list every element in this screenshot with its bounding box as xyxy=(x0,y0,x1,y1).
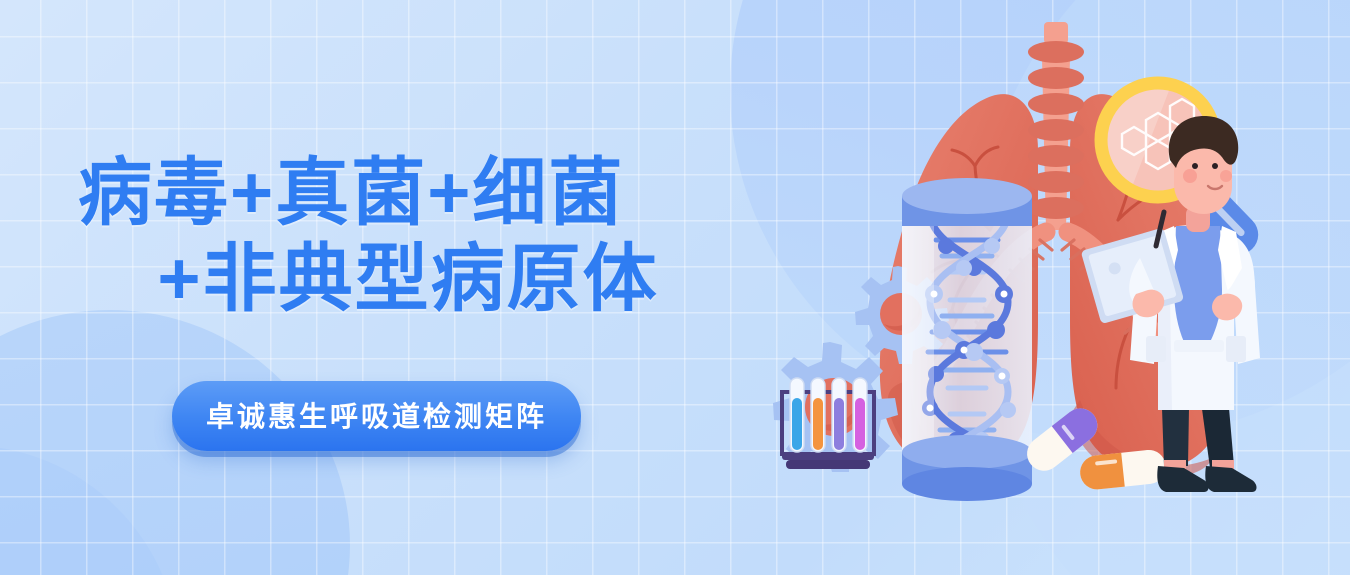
doctor-shoe-left xyxy=(1157,466,1208,492)
test-tube-3 xyxy=(832,378,846,452)
dna-cylinder-group xyxy=(902,178,1032,501)
page-title: 病毒+真菌+细菌 +非典型病原体 xyxy=(78,150,738,322)
subtitle-pill[interactable]: 卓诚惠生呼吸道检测矩阵 xyxy=(172,381,581,451)
doctor-shoe-right xyxy=(1205,466,1256,492)
test-tube-2 xyxy=(811,378,825,452)
respiratory-illustration-svg xyxy=(760,0,1350,575)
doctor-shirt xyxy=(1174,226,1222,342)
headline-line-2: +非典型病原体 xyxy=(78,236,738,322)
test-tube-1 xyxy=(790,378,804,452)
test-tube-4 xyxy=(853,378,867,452)
promo-banner: 病毒+真菌+细菌 +非典型病原体 卓诚惠生呼吸道检测矩阵 xyxy=(0,0,1350,575)
text-column: 病毒+真菌+细菌 +非典型病原体 卓诚惠生呼吸道检测矩阵 xyxy=(0,0,760,575)
subtitle-pill-wrapper: 卓诚惠生呼吸道检测矩阵 xyxy=(172,381,581,451)
illustration xyxy=(760,0,1350,575)
headline-line-1: 病毒+真菌+细菌 xyxy=(78,150,738,236)
